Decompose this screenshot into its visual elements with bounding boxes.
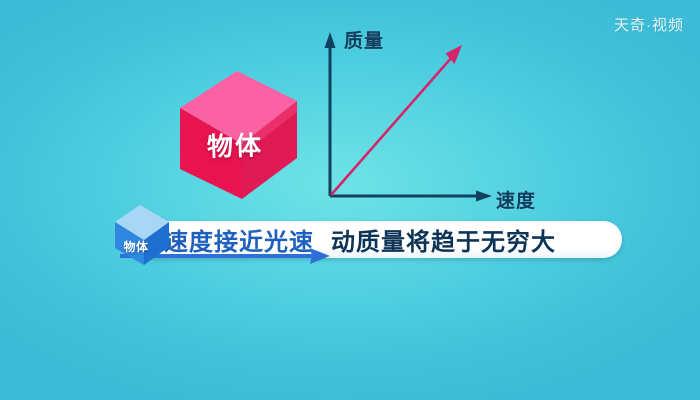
x-axis-arrowhead [476, 191, 492, 202]
caption-segment-2: 动质量将趋于无穷大 [331, 222, 556, 257]
watermark-logo: 天奇·视频 [614, 14, 684, 35]
object-badge-cube-svg [112, 202, 174, 268]
caption-banner: 速度接近光速 动质量将趋于无穷大 物体 [112, 202, 618, 274]
underline-arrowhead [310, 248, 330, 264]
trend-line [331, 57, 452, 195]
y-axis-arrowhead [325, 32, 336, 48]
object-cube-svg [175, 68, 310, 203]
object-badge-cube: 物体 [112, 202, 174, 268]
scene-root: 天奇·视频 质量 速度 物体 [0, 0, 700, 400]
object-cube: 物体 [175, 68, 310, 203]
mass-velocity-graph: 质量 速度 [300, 18, 600, 218]
y-axis-label: 质量 [344, 26, 384, 53]
